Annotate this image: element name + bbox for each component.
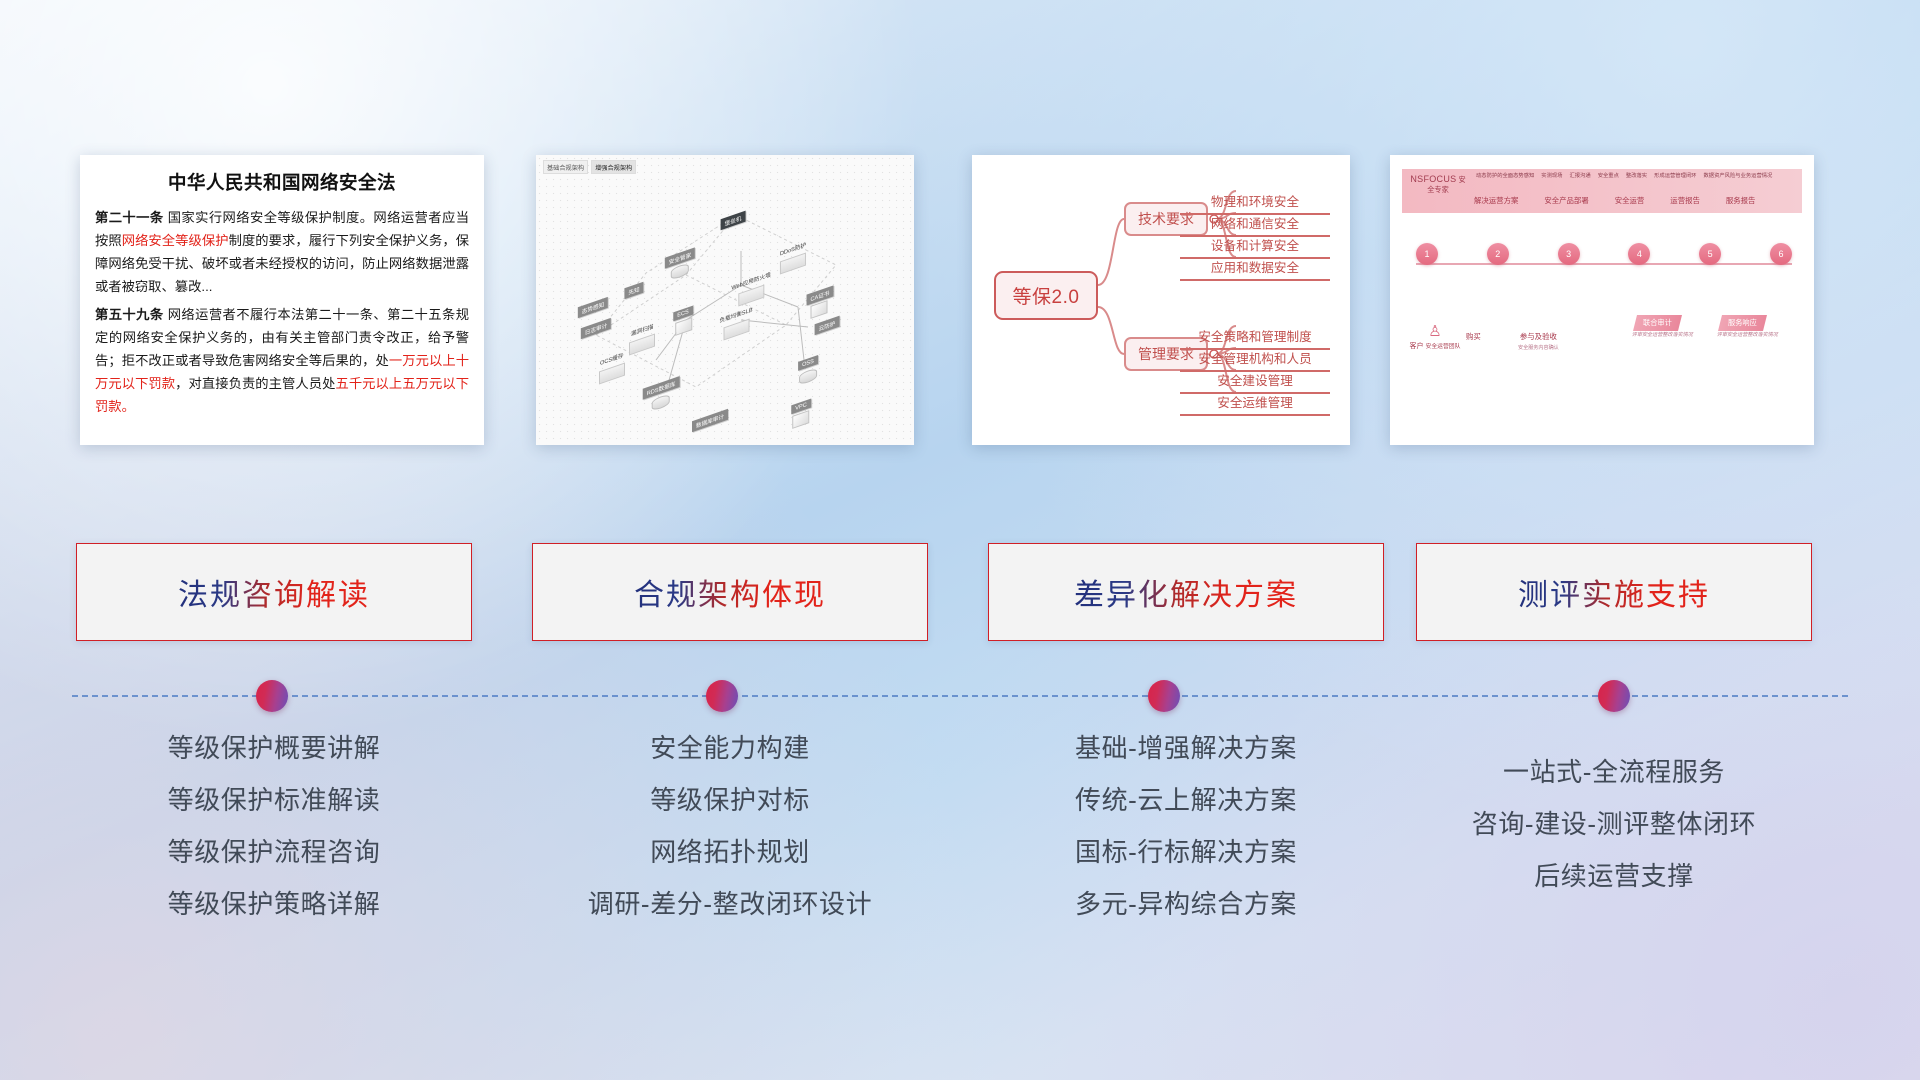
title-boxes-row: 法规咨询解读 合规架构体现 差异化解决方案 测评实施支持 — [0, 543, 1920, 655]
person-icon: ♙ — [1408, 321, 1462, 342]
roadmap-step: 2 — [1487, 243, 1509, 265]
timeline-dot-4[interactable] — [1598, 680, 1630, 712]
detail-item: 多元-异构综合方案 — [988, 891, 1384, 917]
detail-column-2: 安全能力构建等级保护对标网络拓扑规划调研-差分-整改闭环设计 — [532, 735, 928, 943]
roadmap-mid-label: 服务报告 — [1726, 195, 1756, 206]
detail-item: 安全能力构建 — [532, 735, 928, 761]
architecture-node: OSS — [798, 351, 818, 382]
law-paragraph: 第二十一条 国家实行网络安全等级保护制度。网络运营者应当按照网络安全等级保护制度… — [95, 206, 469, 298]
roadmap-step: 5 — [1699, 243, 1721, 265]
mindmap-root: 等保2.0 — [994, 271, 1098, 320]
roadmap-mid-label: 解决运营方案 — [1474, 195, 1518, 206]
mindmap-leaf: 网络和通信安全 — [1180, 213, 1330, 237]
architecture-node: RDS数据库 — [642, 377, 679, 408]
mindmap-leaf: 物理和环境安全 — [1180, 191, 1330, 215]
title-label-2: 合规架构体现 — [634, 570, 826, 614]
roadmap-step: 3 — [1558, 243, 1580, 265]
detail-item: 后续运营支撑 — [1416, 863, 1812, 889]
roadmap-top-label: 动态防护的全面态势感知 — [1476, 171, 1534, 179]
architecture-node: 日志审计 — [581, 317, 611, 335]
law-highlight-text: 网络安全等级保护 — [122, 233, 229, 248]
roadmap-top-label: 形成运营管理闭环 — [1654, 171, 1696, 179]
timeline-dot-3[interactable] — [1148, 680, 1180, 712]
architecture-node: ECS — [674, 301, 694, 333]
architecture-node: 负载均衡SLB — [720, 304, 753, 336]
title-box-3[interactable]: 差异化解决方案 — [988, 543, 1384, 641]
architecture-node: 云防护 — [815, 314, 840, 332]
architecture-diagram: 基础合规架构增强合规架构 — [536, 155, 914, 445]
architecture-node: Web应用防火墙 — [732, 270, 771, 302]
card-mindmap-dengbao[interactable]: 等保2.0 技术要求物理和环境安全网络和通信安全设备和计算安全应用和数据安全管理… — [972, 155, 1350, 445]
architecture-node-shape — [675, 317, 692, 336]
roadmap-top-labels: 动态防护的全面态势感知实测现场汇报沟通安全重点整改落实形成运营管理闭环数据资产风… — [1476, 171, 1772, 179]
slide-canvas: 中华人民共和国网络安全法 第二十一条 国家实行网络安全等级保护制度。网络运营者应… — [0, 0, 1920, 1080]
detail-item: 国标-行标解决方案 — [988, 839, 1384, 865]
detail-column-1: 等级保护概要讲解等级保护标准解读等级保护流程咨询等级保护策略详解 — [76, 735, 472, 943]
title-label-4: 测评实施支持 — [1518, 570, 1710, 614]
architecture-node: CA证书 — [806, 284, 833, 316]
timeline-dot-1[interactable] — [256, 680, 288, 712]
roadmap-caption-sub: 评审安全运营整改落实情况 — [1716, 331, 1779, 338]
mindmap-leaf: 安全策略和管理制度 — [1180, 326, 1330, 350]
mindmap-leaf: 安全运维管理 — [1180, 392, 1330, 416]
timeline — [0, 660, 1920, 720]
architecture-node-label: 日志审计 — [581, 317, 611, 338]
title-label-3: 差异化解决方案 — [1074, 570, 1298, 614]
architecture-tabs[interactable]: 基础合规架构增强合规架构 — [543, 160, 636, 174]
actor-sub: 安全运营团队 — [1425, 344, 1460, 350]
brand-name: NSFOCUS — [1410, 174, 1456, 184]
architecture-node: 漏洞扫描 — [629, 319, 655, 351]
architecture-node: 数据库审计 — [692, 410, 728, 428]
law-paragraph: 第五十九条 网络运营者不履行本法第二十一条、第二十五条规定的网络安全保护义务的，… — [95, 303, 469, 418]
mindmap-leaf: 安全建设管理 — [1180, 370, 1330, 394]
card-compliance-architecture[interactable]: 基础合规架构增强合规架构 — [536, 155, 914, 445]
mindmap-leaf: 应用和数据安全 — [1180, 257, 1330, 281]
detail-item: 等级保护概要讲解 — [76, 735, 472, 761]
architecture-node: DDoS防护 — [780, 238, 806, 270]
architecture-node-shape — [652, 393, 670, 411]
detail-column-4: 一站式-全流程服务咨询-建设-测评整体闭环后续运营支撑 — [1416, 759, 1812, 915]
detail-item: 等级保护对标 — [532, 787, 928, 813]
roadmap-step: 4 — [1628, 243, 1650, 265]
architecture-node: 先知 — [625, 279, 644, 297]
detail-item: 一站式-全流程服务 — [1416, 759, 1812, 785]
title-box-2[interactable]: 合规架构体现 — [532, 543, 928, 641]
roadmap-step: 1 — [1416, 243, 1438, 265]
mindmap-leaf: 设备和计算安全 — [1180, 235, 1330, 259]
timeline-dashed-line — [72, 695, 1848, 697]
roadmap-caption: 参与及验收安全服务内容确认 — [1518, 331, 1559, 351]
detail-column-3: 基础-增强解决方案传统-云上解决方案国标-行标解决方案多元-异构综合方案 — [988, 735, 1384, 943]
architecture-node-shape — [723, 319, 749, 341]
detail-item: 咨询-建设-测评整体闭环 — [1416, 811, 1812, 837]
architecture-node: 态势感知 — [577, 297, 607, 315]
architecture-node-label: 堡垒机 — [720, 211, 745, 231]
preview-cards-row: 中华人民共和国网络安全法 第二十一条 国家实行网络安全等级保护制度。网络运营者应… — [0, 0, 1920, 460]
mindmap: 等保2.0 技术要求物理和环境安全网络和通信安全设备和计算安全应用和数据安全管理… — [972, 155, 1350, 445]
roadmap-caption-text: 服务响应 — [1728, 318, 1757, 328]
law-title: 中华人民共和国网络安全法 — [95, 169, 469, 195]
architecture-node-label: 云防护 — [815, 315, 840, 335]
roadmap-mid-label: 运营报告 — [1670, 195, 1700, 206]
law-text: ，对直接负责的主管人员处 — [175, 376, 335, 391]
architecture-node-shape — [799, 367, 817, 385]
actor-label: 客户 — [1410, 343, 1424, 350]
architecture-nodes: 态势感知先知安全管家堡垒机日志审计漏洞扫描ECSDDoS防护Web应用防火墙负载… — [536, 155, 914, 445]
roadmap-caption-sub: 安全服务内容确认 — [1518, 344, 1559, 351]
detail-item: 调研-差分-整改闭环设计 — [532, 891, 928, 917]
roadmap-step: 6 — [1770, 243, 1792, 265]
timeline-dot-2[interactable] — [706, 680, 738, 712]
roadmap-steps: 123456 — [1416, 243, 1792, 265]
roadmap-actor: ♙ 客户 安全运营团队 — [1408, 321, 1462, 352]
mindmap-leaf: 安全管理机构和人员 — [1180, 348, 1330, 372]
roadmap-caption: 购买 — [1466, 331, 1481, 342]
roadmap-mid-label: 安全运营 — [1615, 195, 1645, 206]
law-article-number: 第二十一条 — [95, 210, 164, 225]
law-article-number: 第五十九条 — [95, 307, 164, 322]
architecture-node-label: 态势感知 — [577, 297, 607, 318]
title-box-1[interactable]: 法规咨询解读 — [76, 543, 472, 641]
law-body: 第二十一条 国家实行网络安全等级保护制度。网络运营者应当按照网络安全等级保护制度… — [95, 206, 469, 418]
architecture-node: 堡垒机 — [720, 210, 745, 228]
roadmap-top-label: 汇报沟通 — [1569, 171, 1590, 179]
detail-item: 等级保护流程咨询 — [76, 839, 472, 865]
law-document: 中华人民共和国网络安全法 第二十一条 国家实行网络安全等级保护制度。网络运营者应… — [80, 155, 484, 445]
detail-item: 基础-增强解决方案 — [988, 735, 1384, 761]
roadmap-caption-text: 联合审计 — [1643, 318, 1672, 328]
roadmap-caption-sub: 评审安全运营整改落实情况 — [1631, 331, 1694, 338]
roadmap-brand: NSFOCUS 安全专家 — [1408, 173, 1468, 195]
roadmap-caption: 联合审计评审安全运营整改落实情况 — [1633, 315, 1682, 331]
detail-item: 等级保护策略详解 — [76, 891, 472, 917]
architecture-tab[interactable]: 基础合规架构 — [543, 160, 588, 174]
roadmap-top-label: 数据资产风险与业务运营情况 — [1703, 171, 1772, 179]
card-nsfocus-roadmap[interactable]: NSFOCUS 安全专家 动态防护的全面态势感知实测现场汇报沟通安全重点整改落实… — [1390, 155, 1814, 445]
detail-item: 传统-云上解决方案 — [988, 787, 1384, 813]
roadmap-mid-label: 安全产品部署 — [1544, 195, 1588, 206]
architecture-node: VPC — [791, 394, 811, 426]
roadmap-top-label: 安全重点 — [1598, 171, 1619, 179]
card-cybersecurity-law[interactable]: 中华人民共和国网络安全法 第二十一条 国家实行网络安全等级保护制度。网络运营者应… — [80, 155, 484, 445]
detail-item: 等级保护标准解读 — [76, 787, 472, 813]
architecture-node: OCS缓存 — [599, 348, 625, 380]
architecture-node: 安全管家 — [664, 247, 694, 278]
roadmap-caption: 服务响应评审安全运营整改落实情况 — [1718, 315, 1767, 331]
roadmap-mid-labels: 解决运营方案安全产品部署安全运营运营报告服务报告 — [1474, 195, 1755, 206]
title-box-4[interactable]: 测评实施支持 — [1416, 543, 1812, 641]
detail-columns-row: 等级保护概要讲解等级保护标准解读等级保护流程咨询等级保护策略详解 安全能力构建等… — [0, 735, 1920, 1035]
title-label-1: 法规咨询解读 — [178, 570, 370, 614]
roadmap-top-label: 整改落实 — [1626, 171, 1647, 179]
detail-item: 网络拓扑规划 — [532, 839, 928, 865]
architecture-tab[interactable]: 增强合规架构 — [591, 160, 636, 174]
roadmap-top-label: 实测现场 — [1541, 171, 1562, 179]
architecture-node-label: 先知 — [625, 282, 644, 300]
roadmap-diagram: NSFOCUS 安全专家 动态防护的全面态势感知实测现场汇报沟通安全重点整改落实… — [1390, 155, 1814, 445]
architecture-node-label: 数据库审计 — [692, 409, 728, 432]
